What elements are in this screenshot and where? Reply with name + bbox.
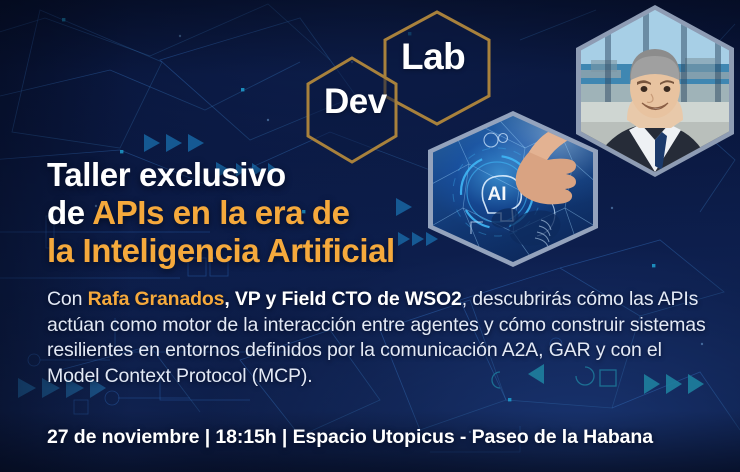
speaker-portrait-hexagon (576, 5, 734, 177)
ai-hexagon-graphic: AI (428, 111, 598, 267)
headline-line-2-accent: APIs en la era de (92, 194, 349, 231)
headline-line-1: Taller exclusivo (47, 156, 395, 194)
headline-line-2: de APIs en la era de (47, 194, 395, 232)
paragraph-seg-2: , (224, 288, 235, 310)
dev-hexagon-label: Dev (324, 82, 387, 122)
paragraph-seg-1: Con (47, 288, 88, 310)
event-details: 27 de noviembre | 18:15h | Espacio Utopi… (47, 426, 653, 449)
lab-hexagon-label: Lab (401, 36, 465, 78)
event-promo-banner: Lab Dev AI (0, 0, 740, 472)
speaker-role: VP y Field CTO de WSO2 (235, 288, 462, 310)
speaker-name: Rafa Granados (88, 288, 225, 310)
headline-line-2-plain: de (47, 194, 92, 231)
ai-label: AI (488, 184, 507, 205)
headline-line-3: la Inteligencia Artificial (47, 232, 395, 270)
description-paragraph: Con Rafa Granados, VP y Field CTO de WSO… (47, 287, 719, 389)
headline: Taller exclusivo de APIs en la era de la… (47, 156, 395, 270)
